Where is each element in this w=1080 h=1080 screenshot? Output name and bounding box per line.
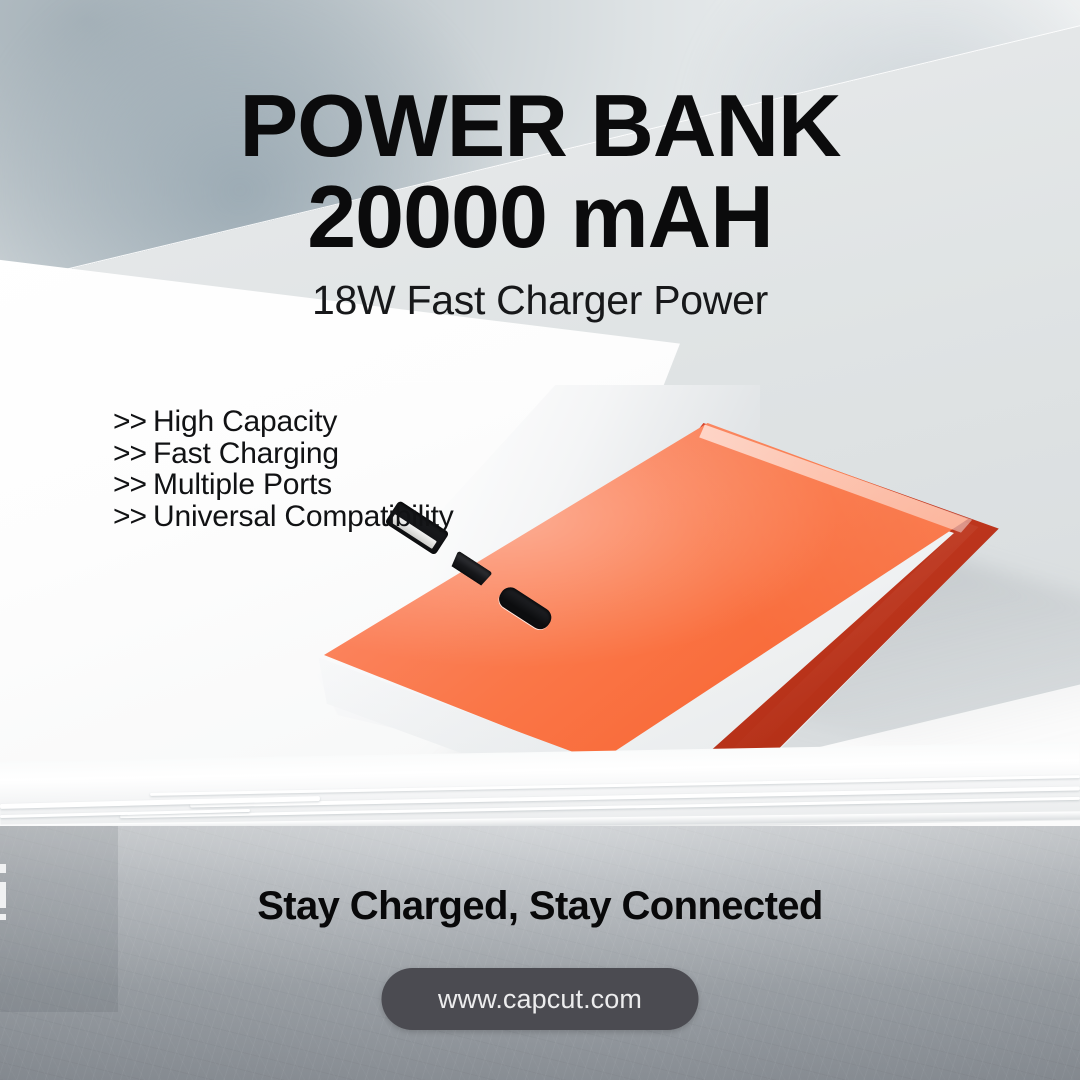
headline-block: POWER BANK 20000 mAH 18W Fast Charger Po… bbox=[0, 86, 1080, 324]
feature-label: High Capacity bbox=[153, 405, 337, 438]
feature-list: >>High Capacity >>Fast Charging >>Multip… bbox=[113, 406, 454, 532]
headline-line-2: 20000 mAH bbox=[0, 167, 1080, 261]
feature-label: Universal Compatibility bbox=[153, 500, 454, 533]
tagline: Stay Charged, Stay Connected bbox=[0, 884, 1080, 929]
chevron-right-icon: >> bbox=[113, 500, 146, 533]
feature-item-high-capacity: >>High Capacity bbox=[113, 406, 454, 438]
subtitle: 18W Fast Charger Power bbox=[0, 261, 1080, 324]
chevron-right-icon: >> bbox=[113, 405, 146, 438]
website-url-label: www.capcut.com bbox=[438, 984, 642, 1015]
feature-label: Fast Charging bbox=[153, 437, 339, 470]
chevron-right-icon: >> bbox=[113, 468, 146, 501]
feature-label: Multiple Ports bbox=[153, 468, 332, 501]
headline-line-1: POWER BANK bbox=[0, 86, 1080, 167]
chevron-right-icon: >> bbox=[113, 437, 146, 470]
feature-item-universal-compatibility: >>Universal Compatibility bbox=[113, 501, 454, 533]
band-edge-mark bbox=[0, 864, 6, 873]
website-url-pill[interactable]: www.capcut.com bbox=[382, 968, 699, 1030]
bottom-gray-band bbox=[0, 826, 1080, 1080]
micro-usb-port-icon bbox=[449, 551, 493, 588]
feature-item-fast-charging: >>Fast Charging bbox=[113, 438, 454, 470]
product-poster: POWER BANK 20000 mAH 18W Fast Charger Po… bbox=[0, 0, 1080, 1080]
usb-c-port-icon bbox=[495, 584, 555, 633]
band-vignette bbox=[0, 826, 1080, 1080]
feature-item-multiple-ports: >>Multiple Ports bbox=[113, 469, 454, 501]
